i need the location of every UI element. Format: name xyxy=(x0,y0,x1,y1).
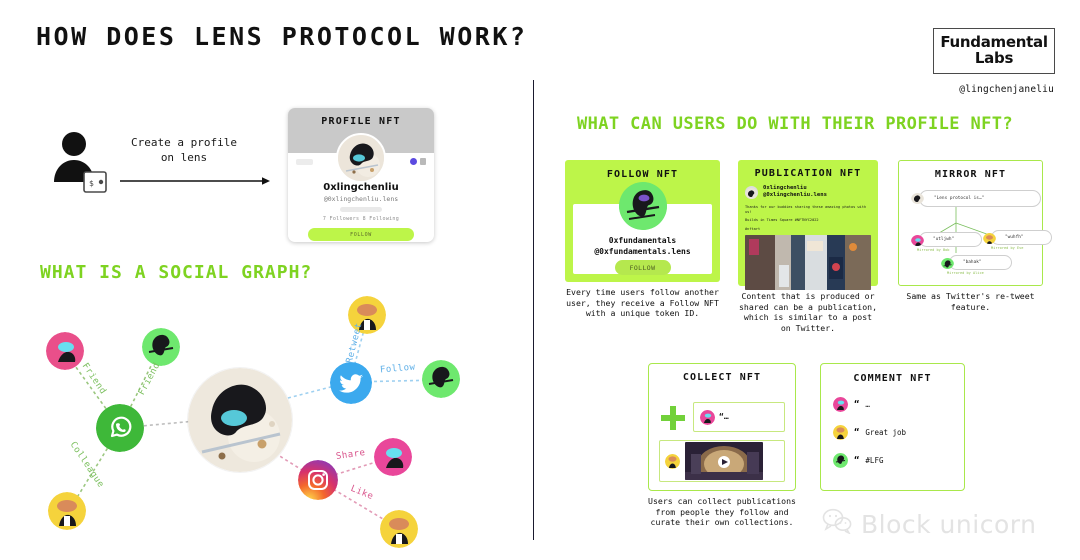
mirror-right-note: Mirrored by Eve xyxy=(991,246,1023,250)
lens-badge-icon xyxy=(410,158,417,165)
profile-nft-badge xyxy=(340,207,382,212)
comment-avatar-yellow xyxy=(833,425,848,440)
publication-nft-card: PUBLICATION NFT 0xlingchenliu @0xlingche… xyxy=(738,160,878,333)
profile-nft-card: PROFILE NFT 0xlingchenliu @0xl xyxy=(288,108,434,242)
publication-post-image xyxy=(745,235,871,290)
mirror-nft-caption: Same as Twitter's re-tweet feature. xyxy=(898,291,1043,312)
logo-line-2: Labs xyxy=(975,51,1013,67)
plus-icon[interactable] xyxy=(661,406,685,430)
follow-nft-avatar xyxy=(619,182,667,230)
mirror-left-bubble: "utljwh" xyxy=(919,232,982,247)
comment-avatar-green xyxy=(833,453,848,468)
follow-nft-button[interactable]: FOLLOW xyxy=(615,260,671,275)
publication-nft-author: 0xlingchenliu @0xlingchenliu.lens xyxy=(745,185,871,199)
comment-quote-icon: “ xyxy=(854,428,859,438)
profile-nft-placeholder-left xyxy=(296,159,313,165)
collect-nft-body: COLLECT NFT “… xyxy=(648,363,796,491)
whatsapp-icon xyxy=(96,404,144,452)
page-title: HOW DOES LENS PROTOCOL WORK? xyxy=(36,22,527,51)
collect-row-quote: “… xyxy=(693,402,785,432)
share-avatar-pink xyxy=(374,438,412,476)
publication-nft-name: 0xlingchenliu xyxy=(763,185,827,192)
author-handle: @lingchenjaneliu xyxy=(959,84,1054,95)
comment-nft-title: COMMENT NFT xyxy=(833,373,952,384)
friend-avatar-green-1 xyxy=(142,328,180,366)
comment-row: “ … xyxy=(833,397,952,412)
twitter-icon xyxy=(330,362,372,404)
collect-video-thumbnail[interactable] xyxy=(685,442,763,480)
follow-nft-handle: @0xfundamentals.lens xyxy=(565,247,720,256)
publication-post-line-1: Thanks for our buddies sharing these ama… xyxy=(745,205,871,214)
mirror-right-avatar xyxy=(983,231,996,244)
social-graph: Friend Friend Colleague Retweet Follow S… xyxy=(20,290,480,550)
profile-nft-follow-button[interactable]: FOLLOW xyxy=(308,228,414,241)
profile-nft-handle: @0xlingchenliu.lens xyxy=(288,195,434,203)
fundamental-labs-logo: Fundamental Labs xyxy=(933,28,1055,74)
publication-nft-title: PUBLICATION NFT xyxy=(745,168,871,179)
hub-avatar xyxy=(188,368,292,472)
publication-post-text: Thanks for our buddies sharing these ama… xyxy=(745,205,871,231)
publication-author-avatar xyxy=(745,186,758,199)
svg-text:$: $ xyxy=(89,179,94,188)
watermark: Block unicorn xyxy=(822,508,1036,540)
comment-row: “ #LFG xyxy=(833,453,952,468)
like-avatar-yellow xyxy=(380,510,418,548)
social-graph-title: WHAT IS A SOCIAL GRAPH? xyxy=(40,262,312,283)
collect-row2-avatar xyxy=(665,454,680,469)
comment-nft-body: COMMENT NFT “ … xyxy=(820,363,965,491)
infographic-page: HOW DOES LENS PROTOCOL WORK? $ Create a … xyxy=(0,0,1080,560)
publication-post-line-3: #nftart xyxy=(745,227,871,232)
mirror-right-bubble: "wuhfh" xyxy=(991,230,1052,245)
mirror-bottom-bubble: "bahak" xyxy=(949,255,1012,270)
collect-row1-avatar xyxy=(700,410,715,425)
mirror-root-bubble: "Lens protocol is…" xyxy=(919,190,1041,207)
collect-nft-card: COLLECT NFT “… xyxy=(648,363,796,528)
watermark-text: Block unicorn xyxy=(861,510,1036,539)
comment-quote-icon: “ xyxy=(854,456,859,466)
mirror-left-note: Mirrored by Bob xyxy=(917,248,949,252)
comment-avatar-pink xyxy=(833,397,848,412)
follow-nft-card: FOLLOW NFT 0xfundamentals @0xfundamental… xyxy=(565,160,720,319)
vertical-divider xyxy=(533,80,534,540)
comment-text: … xyxy=(865,400,870,409)
mirror-bottom-avatar xyxy=(941,256,954,269)
mirror-nft-body: MIRROR NFT "Lens protocol is…" xyxy=(898,160,1043,286)
publication-nft-caption: Content that is produced or shared can b… xyxy=(738,291,878,333)
instagram-icon xyxy=(298,460,338,500)
comment-nft-card: COMMENT NFT “ … xyxy=(820,363,965,491)
follow-nft-body: FOLLOW NFT 0xfundamentals @0xfundamental… xyxy=(565,160,720,282)
mirror-left-avatar xyxy=(911,233,924,246)
mirror-bottom-note: Mirrored by Alice xyxy=(947,271,984,275)
collect-nft-title: COLLECT NFT xyxy=(658,372,786,383)
collect-row-media xyxy=(659,440,785,482)
collect-row1-text: “… xyxy=(719,413,729,421)
comment-quote-icon: “ xyxy=(854,400,859,410)
follow-nft-name: 0xfundamentals xyxy=(565,236,720,245)
comment-text: Great job xyxy=(865,428,906,437)
publication-nft-handle: @0xlingchenliu.lens xyxy=(763,192,827,199)
flow-arrow-icon xyxy=(120,172,270,184)
mirror-root-avatar xyxy=(911,191,924,204)
profile-nft-stats: 7 Followers 8 Following xyxy=(288,216,434,222)
follow-nft-caption: Every time users follow another user, th… xyxy=(565,287,720,319)
friend-avatar-pink-1 xyxy=(46,332,84,370)
publication-post-line-2: Builds in Times Square #NFTNYC2022 xyxy=(745,218,871,223)
comment-text: #LFG xyxy=(865,456,883,465)
profile-nft-actions[interactable] xyxy=(410,158,426,165)
publication-nft-body: PUBLICATION NFT 0xlingchenliu @0xlingche… xyxy=(738,160,878,286)
collect-nft-caption: Users can collect publications from peop… xyxy=(648,496,796,528)
wechat-icon xyxy=(822,508,852,540)
comment-row: “ Great job xyxy=(833,425,952,440)
publication-author-names: 0xlingchenliu @0xlingchenliu.lens xyxy=(763,185,827,199)
profile-nft-banner: PROFILE NFT xyxy=(288,108,434,153)
flow-arrow-label: Create a profile on lens xyxy=(118,135,250,165)
follow-avatar-green xyxy=(422,360,460,398)
person-with-wallet-icon: $ xyxy=(48,130,114,200)
profile-nft-body: 0xlingchenliu @0xlingchenliu.lens 7 Foll… xyxy=(288,153,434,242)
follow-nft-title: FOLLOW NFT xyxy=(565,169,720,180)
profile-nft-name: 0xlingchenliu xyxy=(288,182,434,193)
mirror-nft-card: MIRROR NFT "Lens protocol is…" xyxy=(898,160,1043,312)
section-title: WHAT CAN USERS DO WITH THEIR PROFILE NFT… xyxy=(577,114,1013,134)
profile-nft-title: PROFILE NFT xyxy=(288,116,434,127)
colleague-avatar-yellow-1 xyxy=(48,492,86,530)
share-icon[interactable] xyxy=(420,158,426,165)
